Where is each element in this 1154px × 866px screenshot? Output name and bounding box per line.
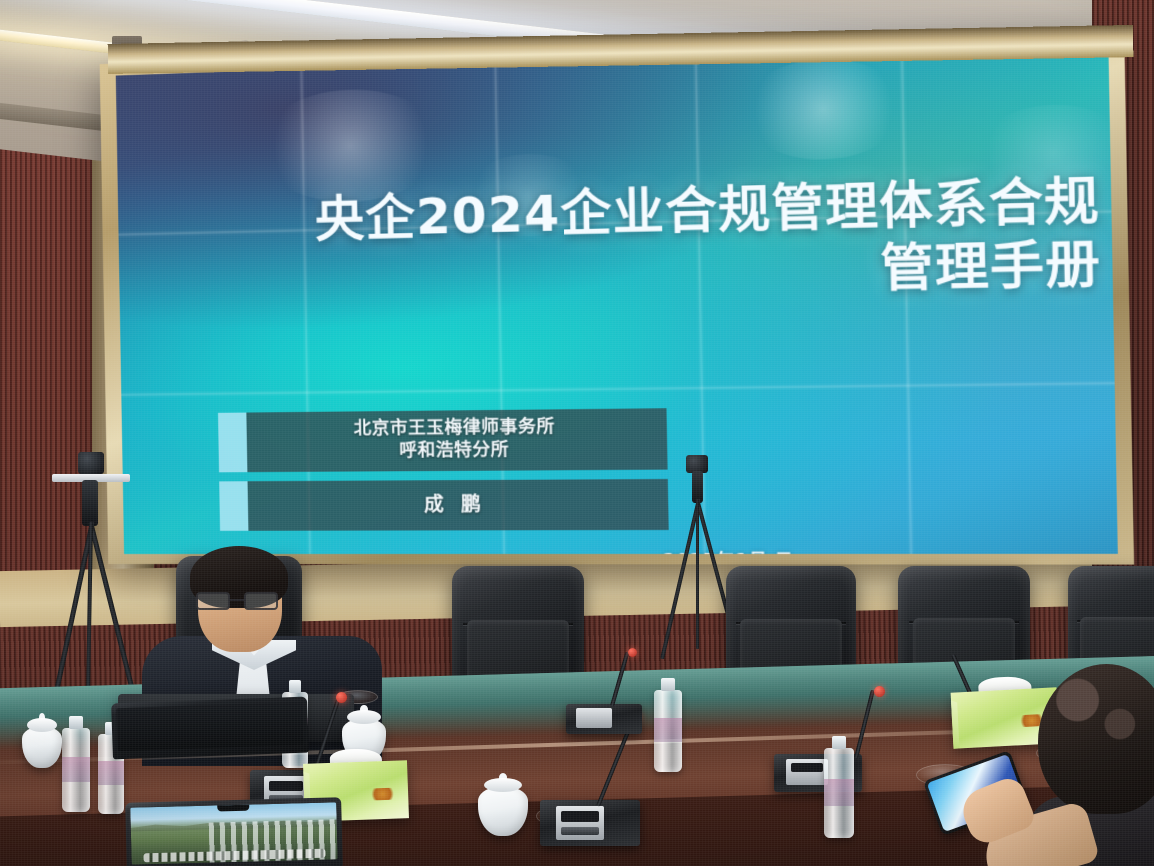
laptop-foreground[interactable] — [125, 797, 343, 866]
attendee-with-phone — [1016, 664, 1154, 866]
slide-organization-box: 北京市王玉梅律师事务所 呼和浩特分所 — [246, 408, 667, 471]
bottle-3-cap — [289, 680, 301, 693]
video-wall-frame: 央企2024企业合规管理体系合规 管理手册 北京市王玉梅律师事务所 呼和浩特分所… — [100, 28, 1134, 565]
cup-1-lid — [347, 710, 380, 724]
bottle-4-body — [62, 728, 90, 812]
byline-accent-tab-speaker — [219, 481, 248, 531]
tripod-center-leg-2 — [660, 499, 701, 660]
byline-accent-tab-org — [218, 413, 247, 472]
tripod-left-camera — [78, 452, 104, 474]
screen-glare-1 — [257, 87, 444, 204]
slide-speaker-box: 成 鹏 — [248, 478, 669, 530]
video-wall-screen[interactable]: 央企2024企业合规管理体系合规 管理手册 北京市王玉梅律师事务所 呼和浩特分所… — [116, 41, 1118, 554]
bottle-1[interactable] — [654, 690, 682, 772]
cup-3[interactable] — [22, 726, 62, 768]
mic-2-display — [561, 811, 599, 822]
laptop-foreground-screen[interactable] — [130, 802, 337, 864]
slide-title: 央企2024企业合规管理体系合规 管理手册 — [154, 170, 1102, 312]
panel-seam-h2 — [121, 382, 1114, 396]
laptop-foreground-notch — [217, 805, 250, 812]
bottle-2-cap — [832, 736, 846, 749]
tripod-center-leg-3 — [696, 499, 699, 649]
mic-1-capsule-indicator — [336, 692, 347, 703]
bottle-4[interactable] — [62, 728, 90, 812]
bottle-4-label — [62, 757, 90, 782]
mic-3-capsule-indicator — [628, 648, 637, 657]
tissue-box-1-logo — [368, 787, 395, 801]
laptop-speaker-lid — [111, 697, 309, 760]
bottle-2-label — [824, 779, 854, 806]
cup-2[interactable] — [478, 786, 528, 836]
bottle-1-label — [654, 718, 682, 743]
cup-2-lid — [484, 778, 522, 792]
bottle-2[interactable] — [824, 748, 854, 838]
mic-2[interactable] — [540, 782, 644, 846]
conference-room-photo: 央企2024企业合规管理体系合规 管理手册 北京市王玉梅律师事务所 呼和浩特分所… — [0, 0, 1154, 866]
slide-byline-group: 北京市王玉梅律师事务所 呼和浩特分所 成 鹏 — [218, 408, 669, 539]
mic-3[interactable] — [566, 694, 646, 738]
bottle-4-cap — [69, 716, 82, 729]
video-wall-bezel: 央企2024企业合规管理体系合规 管理手册 北京市王玉梅律师事务所 呼和浩特分所… — [116, 41, 1118, 554]
speaker-glasses — [196, 592, 284, 610]
speaker-glasses-bridge — [230, 599, 244, 601]
organization-line-1: 北京市王玉梅律师事务所 — [253, 416, 661, 442]
bottle-1-cap — [661, 678, 674, 691]
mic-3-panel — [576, 708, 612, 728]
slide-organization-row: 北京市王玉梅律师事务所 呼和浩特分所 — [218, 408, 668, 472]
slide-speaker-row: 成 鹏 — [219, 478, 669, 530]
laptop-foreground-lid — [125, 797, 343, 866]
mic-2-talk-button[interactable] — [561, 827, 599, 835]
bottle-5-label — [98, 761, 124, 785]
mic-4-display — [791, 763, 823, 772]
bottle-1-body — [654, 690, 682, 772]
cup-3-lid — [27, 718, 57, 732]
tripod-center — [664, 455, 734, 655]
screen-glare-2 — [740, 57, 907, 162]
mic-4-capsule-indicator — [874, 686, 885, 697]
laptop-speaker-screen[interactable] — [116, 702, 303, 751]
speaker-glasses-lens-right — [244, 592, 278, 610]
mic-1-display — [269, 781, 303, 791]
speaker-glasses-lens-left — [196, 592, 230, 610]
laptop-speaker[interactable] — [111, 697, 309, 760]
bottle-2-body — [824, 748, 854, 838]
panel-seam-v4 — [901, 48, 913, 554]
organization-line-2: 呼和浩特分所 — [253, 438, 661, 463]
attendee-hair — [1038, 664, 1154, 814]
cup-3-body — [22, 726, 62, 768]
cup-2-body — [478, 786, 528, 836]
tripod-left-head — [82, 480, 98, 526]
